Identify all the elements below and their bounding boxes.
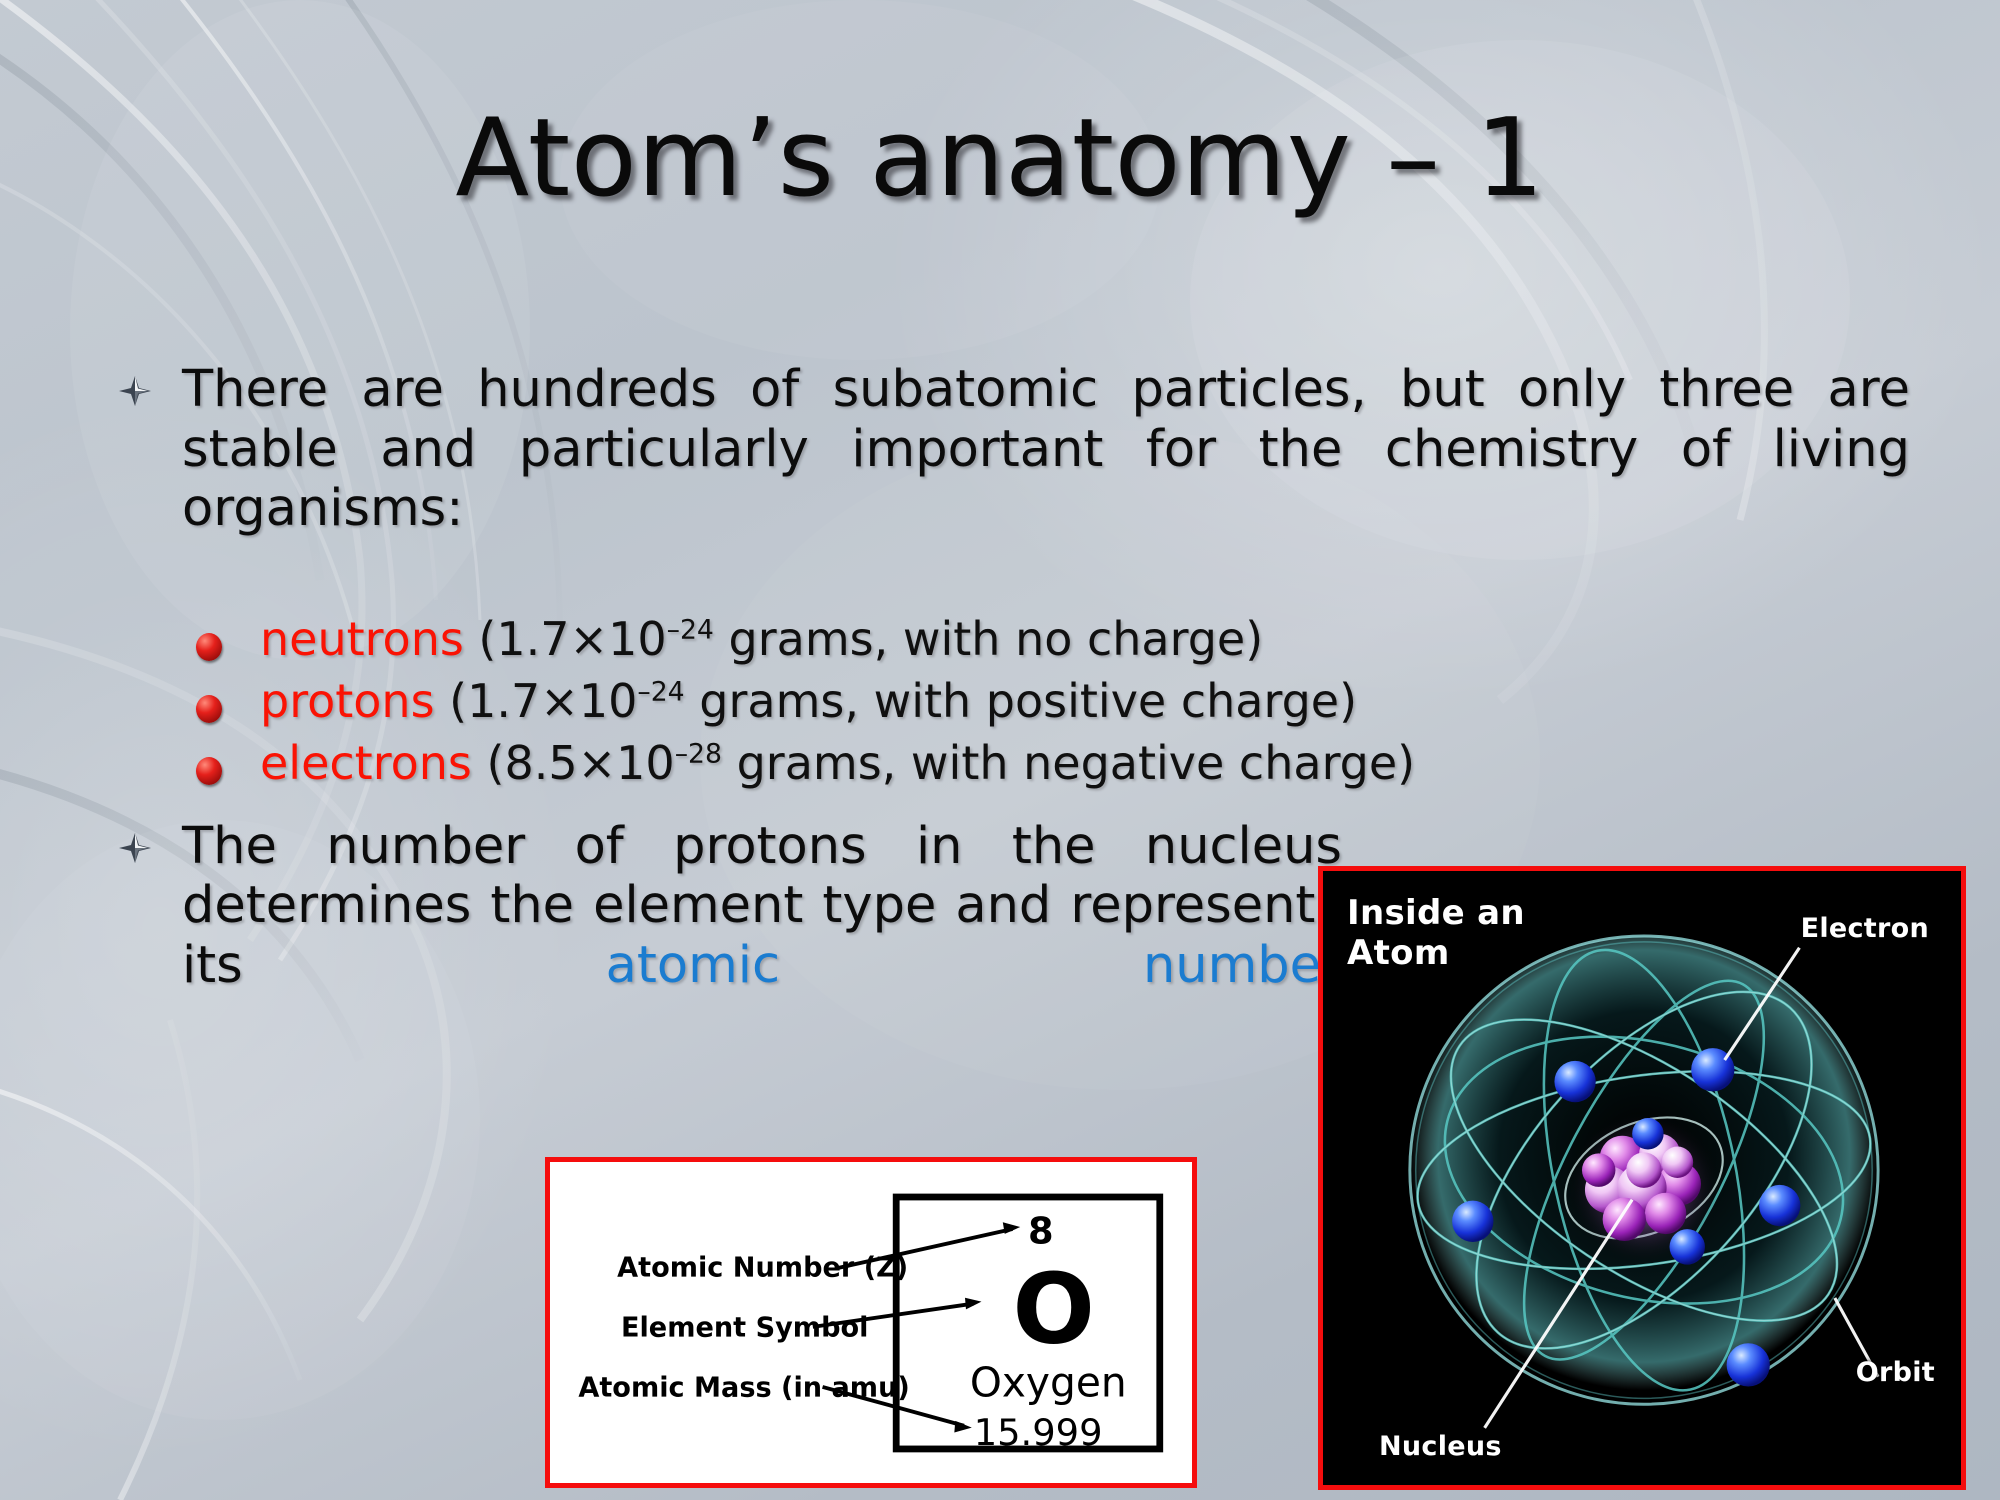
svg-text:8: 8 — [1028, 1210, 1054, 1253]
electrons-exponent: –28 — [675, 739, 722, 770]
sub-bullet-list: neutrons (1.7×10–24 grams, with no charg… — [110, 613, 1910, 791]
neutrons-mass-prefix: (1.7×10 — [464, 612, 667, 666]
inside-an-atom-canvas: Inside an Atom Electron Orbit Nucleus — [1327, 875, 1957, 1481]
atom-figure-title-line2: Atom — [1347, 933, 1450, 973]
oxygen-diagram-canvas: 8 O Oxygen 15.999 Atomic Number (Z) Elem… — [554, 1166, 1188, 1479]
electrons-mass-suffix: grams, with negative charge) — [722, 736, 1415, 790]
red-sphere-bullet-icon — [196, 757, 222, 785]
slide-canvas: Atom’s anatomy – 1 There are hundreds of… — [0, 0, 2000, 1500]
red-sphere-bullet-icon — [196, 695, 222, 723]
keyword-electrons: electrons — [260, 736, 472, 790]
highlight-atomic-number: atomic number — [606, 936, 1342, 995]
atom-figure-title-line1: Inside an — [1347, 893, 1525, 933]
atom-label-nucleus: Nucleus — [1379, 1431, 1502, 1463]
four-point-star-bullet-icon — [118, 374, 152, 408]
sub-bullet-neutrons: neutrons (1.7×10–24 grams, with no charg… — [110, 613, 1910, 666]
protons-mass-prefix: (1.7×10 — [435, 674, 638, 728]
neutrons-mass-suffix: grams, with no charge) — [714, 612, 1263, 666]
svg-text:Atomic Mass (in amu): Atomic Mass (in amu) — [578, 1373, 909, 1404]
four-point-star-bullet-icon — [118, 831, 152, 865]
bullet-item-2: The number of protons in the nucleus det… — [110, 817, 1342, 1056]
red-sphere-bullet-icon — [196, 633, 222, 661]
atom-figure-title: Inside an Atom — [1347, 893, 1525, 973]
svg-text:Atomic Number (Z): Atomic Number (Z) — [617, 1252, 908, 1283]
atom-label-orbit: Orbit — [1856, 1357, 1935, 1389]
keyword-protons: protons — [260, 674, 435, 728]
bullet-item-1-text: There are hundreds of subatomic particle… — [182, 360, 1910, 538]
protons-exponent: –24 — [637, 677, 684, 708]
electrons-mass-prefix: (8.5×10 — [472, 736, 675, 790]
sub-bullet-protons: protons (1.7×10–24 grams, with positive … — [110, 675, 1910, 728]
keyword-neutrons: neutrons — [260, 612, 464, 666]
svg-text:O: O — [1012, 1252, 1094, 1365]
oxygen-diagram-figure: 8 O Oxygen 15.999 Atomic Number (Z) Elem… — [545, 1157, 1197, 1488]
svg-text:Oxygen: Oxygen — [970, 1359, 1127, 1407]
atom-label-electron: Electron — [1801, 913, 1929, 945]
slide-title: Atom’s anatomy – 1 — [0, 96, 2000, 221]
svg-text:Element Symbol: Element Symbol — [621, 1313, 868, 1344]
bullet-item-1: There are hundreds of subatomic particle… — [110, 360, 1910, 599]
svg-text:15.999: 15.999 — [974, 1411, 1103, 1454]
neutrons-exponent: –24 — [667, 614, 714, 645]
sub-bullet-electrons: electrons (8.5×10–28 grams, with negativ… — [110, 737, 1910, 790]
protons-mass-suffix: grams, with positive charge) — [685, 674, 1357, 728]
inside-an-atom-figure: Inside an Atom Electron Orbit Nucleus — [1318, 866, 1966, 1490]
